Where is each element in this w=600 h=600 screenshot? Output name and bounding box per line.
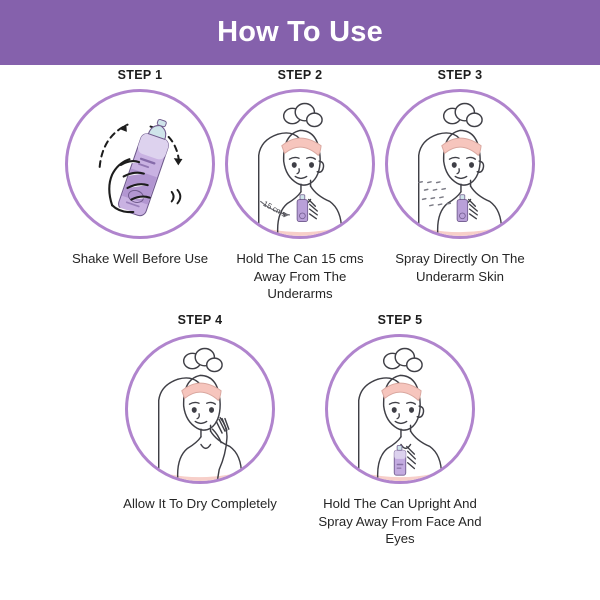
step-label-1: STEP 1 [118,68,163,82]
step-circle-2: 15 cms [225,89,375,239]
how-to-use-infographic: How To Use STEP 1 [0,0,600,600]
steps-row-top: STEP 1 [0,68,600,303]
step-card-1: STEP 1 [60,68,220,303]
step-illustration-4 [125,334,275,484]
step-illustration-1 [65,89,215,239]
step-card-2: STEP 2 [220,68,380,303]
woman-holding-can-at-distance-icon: 15 cms [228,92,372,236]
step-caption-5: Hold The Can Upright And Spray Away From… [310,495,490,548]
step-caption-4: Allow It To Dry Completely [123,495,277,513]
step-card-4: STEP 4 [100,313,300,548]
step-caption-1: Shake Well Before Use [72,250,208,268]
step-label-4: STEP 4 [178,313,223,327]
step-label-5: STEP 5 [378,313,423,327]
woman-holding-can-upright-icon [328,337,472,481]
distance-annotation-text: 15 cms [262,199,288,219]
step-caption-3: Spray Directly On The Underarm Skin [380,250,540,285]
step-circle-3 [385,89,535,239]
step-circle-5 [325,334,475,484]
step-illustration-5 [325,334,475,484]
step-circle-1 [65,89,215,239]
step-label-3: STEP 3 [438,68,483,82]
step-circle-4 [125,334,275,484]
hand-shaking-spray-can-icon [68,92,212,236]
step-illustration-3 [385,89,535,239]
step-label-2: STEP 2 [278,68,323,82]
step-caption-2: Hold The Can 15 cms Away From The Undera… [220,250,380,303]
step-card-5: STEP 5 [300,313,500,548]
steps-row-bottom: STEP 4 [0,313,600,548]
woman-spraying-underarm-icon [388,92,532,236]
page-title: How To Use [217,16,383,49]
woman-touching-face-drying-icon [128,337,272,481]
step-card-3: STEP 3 [380,68,540,303]
header-banner: How To Use [0,0,600,65]
step-illustration-2: 15 cms [225,89,375,239]
